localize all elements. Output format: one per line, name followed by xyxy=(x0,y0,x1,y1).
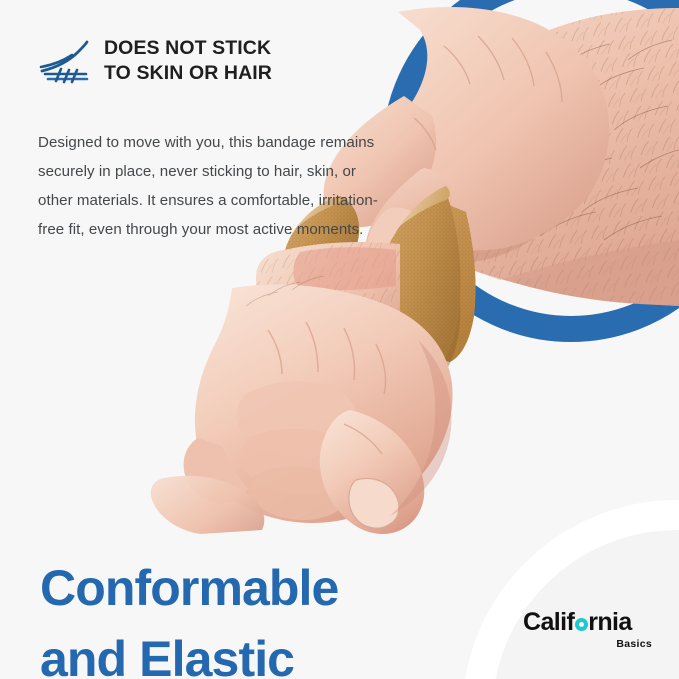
feature-body-text: Designed to move with you, this bandage … xyxy=(38,128,390,245)
brand-name-part1: Calif xyxy=(523,608,574,636)
product-feature-graphic: DOES NOT STICK TO SKIN OR HAIR Designed … xyxy=(0,0,679,679)
brand-name-part2: rnia xyxy=(588,608,631,636)
brand-tagline: Basics xyxy=(523,638,653,650)
tape-not-sticking-to-hair-icon xyxy=(38,38,90,84)
white-circle-ring xyxy=(462,500,679,679)
blue-circle-ring xyxy=(382,0,679,342)
logo-o-ring-icon xyxy=(575,618,588,631)
feature-heading: DOES NOT STICK TO SKIN OR HAIR xyxy=(104,36,272,86)
hero-title: Conformable and Elastic xyxy=(40,553,460,679)
brand-name: Califrnia xyxy=(523,610,653,635)
feature-headline-block: DOES NOT STICK TO SKIN OR HAIR xyxy=(38,36,398,86)
brand-logo: Califrnia Basics xyxy=(523,610,653,650)
